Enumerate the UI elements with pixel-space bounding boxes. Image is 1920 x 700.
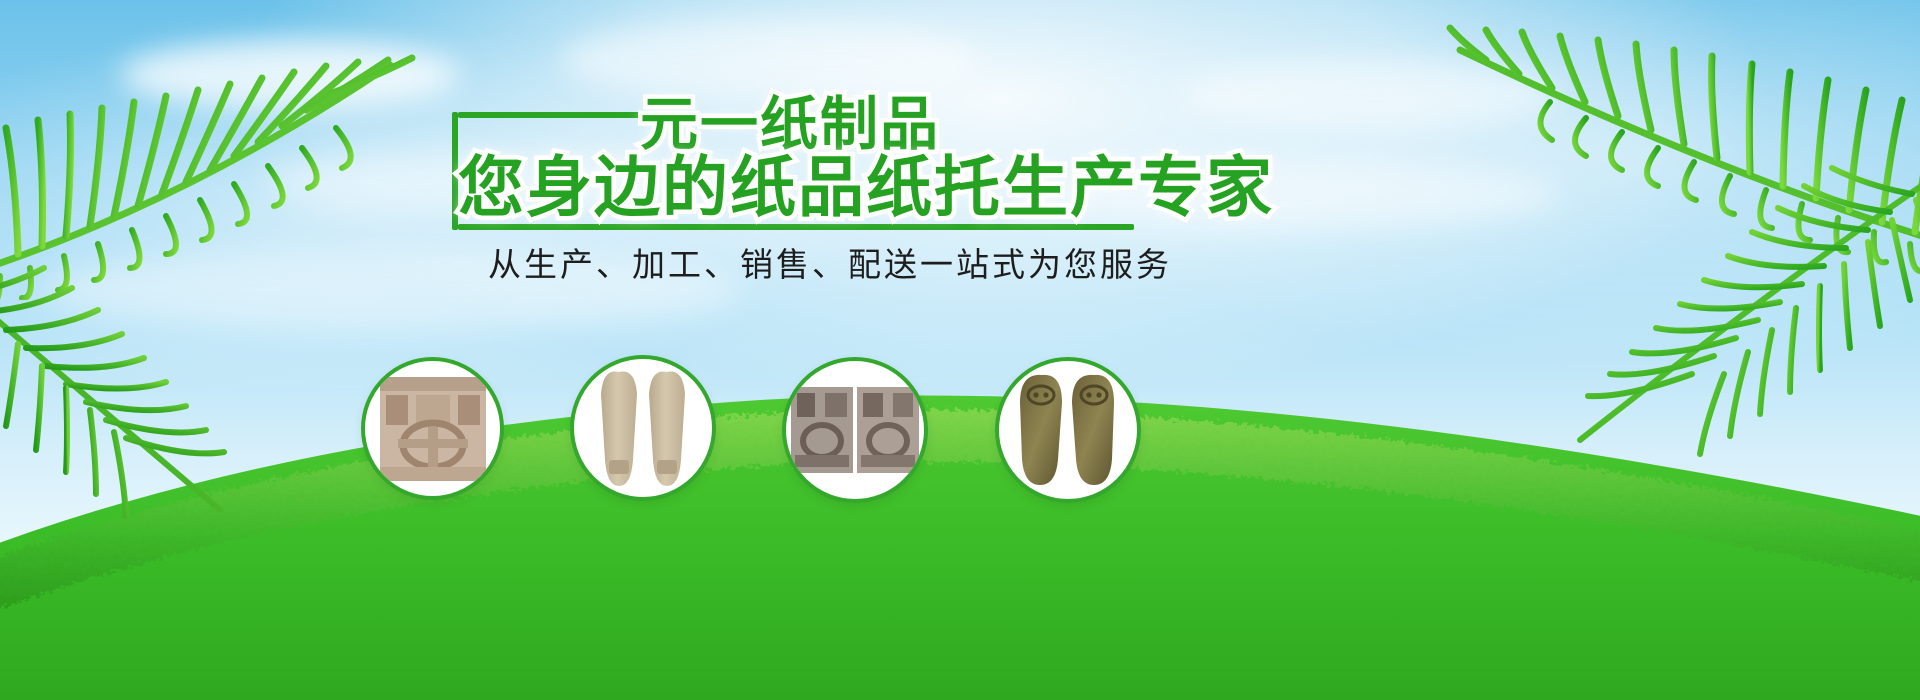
product-circle-molded-pulp-tray-square[interactable]: [361, 357, 504, 500]
molded-pulp-tray-pair-icon: [791, 387, 919, 473]
molded-pulp-shoe-inserts-icon: [589, 364, 697, 492]
promo-banner: 元一纸制品 您身边的纸品纸托生产专家 从生产、加工、销售、配送一站式为您服务: [0, 0, 1920, 700]
molded-pulp-tray-square-icon: [378, 375, 488, 483]
molded-pulp-shoe-forms-icon: [1012, 369, 1124, 491]
product-circle-molded-pulp-tray-pair[interactable]: [782, 357, 928, 503]
product-circle-molded-pulp-shoe-forms[interactable]: [995, 357, 1141, 503]
product-circle-molded-pulp-shoe-inserts[interactable]: [570, 355, 716, 501]
product-circle-row: [0, 0, 1920, 700]
